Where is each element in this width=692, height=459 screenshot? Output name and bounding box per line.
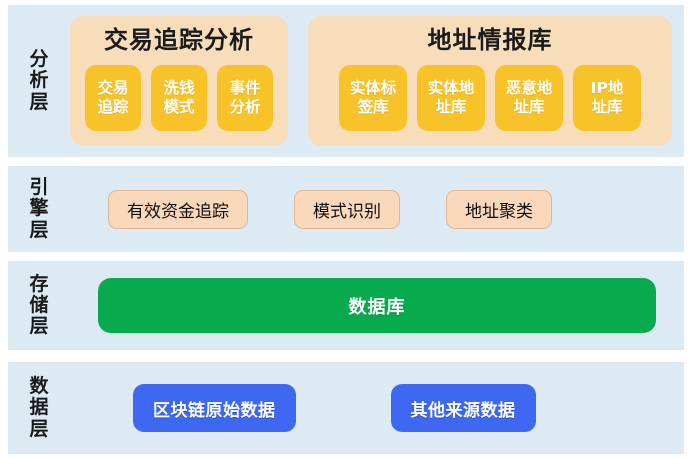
architecture-diagram: 分 析 层 交易追踪分析 交易 追踪 洗钱 模式 事件 分析 地址情报库 实体标… — [0, 0, 692, 459]
data-box-blockchain-raw-data[interactable]: 区块链原始数据 — [133, 384, 296, 432]
tile-row: 实体标 签库 实体地 址库 恶意地 址库 IP地 址库 — [339, 60, 641, 136]
layer-analysis: 分 析 层 交易追踪分析 交易 追踪 洗钱 模式 事件 分析 地址情报库 实体标… — [8, 5, 684, 157]
tile-event-analysis[interactable]: 事件 分析 — [217, 65, 273, 131]
tile-ip-address-db[interactable]: IP地 址库 — [573, 65, 641, 131]
layer-storage: 存 储 层 数据库 — [8, 261, 684, 350]
layer-label-char: 层 — [29, 92, 48, 113]
layer-label-char: 析 — [29, 70, 48, 91]
layer-label-char: 分 — [29, 49, 48, 70]
group-card-transaction-tracing[interactable]: 交易追踪分析 交易 追踪 洗钱 模式 事件 分析 — [70, 16, 288, 146]
group-title: 交易追踪分析 — [104, 22, 254, 58]
layer-label-char: 数 — [29, 376, 48, 397]
layer-data-content: 区块链原始数据 其他来源数据 — [70, 362, 684, 454]
tile-entity-label-db[interactable]: 实体标 签库 — [339, 65, 407, 131]
layer-label-analysis: 分 析 层 — [8, 5, 70, 157]
layer-label-char: 储 — [29, 295, 48, 316]
group-card-address-intelligence[interactable]: 地址情报库 实体标 签库 实体地 址库 恶意地 址库 IP地 址库 — [308, 16, 672, 146]
layer-label-storage: 存 储 层 — [8, 261, 70, 350]
group-title: 地址情报库 — [428, 22, 553, 58]
tile-row: 交易 追踪 洗钱 模式 事件 分析 — [85, 60, 273, 136]
database-bar[interactable]: 数据库 — [98, 278, 656, 333]
layer-analysis-content: 交易追踪分析 交易 追踪 洗钱 模式 事件 分析 地址情报库 实体标 签库 实体… — [70, 5, 684, 157]
tile-malicious-address-db[interactable]: 恶意地 址库 — [495, 65, 563, 131]
layer-label-char: 擎 — [29, 198, 48, 219]
tile-transaction-tracing[interactable]: 交易 追踪 — [85, 65, 141, 131]
pill-address-clustering[interactable]: 地址聚类 — [446, 190, 552, 229]
layer-engine: 引 擎 层 有效资金追踪 模式识别 地址聚类 — [8, 166, 684, 252]
layer-engine-content: 有效资金追踪 模式识别 地址聚类 — [70, 166, 684, 252]
data-box-other-source-data[interactable]: 其他来源数据 — [391, 384, 536, 432]
tile-entity-address-db[interactable]: 实体地 址库 — [417, 65, 485, 131]
layer-label-char: 存 — [29, 274, 48, 295]
layer-label-char: 层 — [29, 220, 48, 241]
layer-label-data: 数 据 层 — [8, 362, 70, 454]
layer-label-char: 层 — [29, 419, 48, 440]
layer-label-char: 层 — [29, 316, 48, 337]
pill-effective-fund-tracing[interactable]: 有效资金追踪 — [108, 190, 248, 229]
layer-label-char: 引 — [29, 177, 48, 198]
layer-label-engine: 引 擎 层 — [8, 166, 70, 252]
layer-label-char: 据 — [29, 397, 48, 418]
pill-pattern-recognition[interactable]: 模式识别 — [294, 190, 400, 229]
tile-money-laundering-pattern[interactable]: 洗钱 模式 — [151, 65, 207, 131]
layer-storage-content: 数据库 — [70, 261, 684, 350]
layer-data: 数 据 层 区块链原始数据 其他来源数据 — [8, 362, 684, 454]
